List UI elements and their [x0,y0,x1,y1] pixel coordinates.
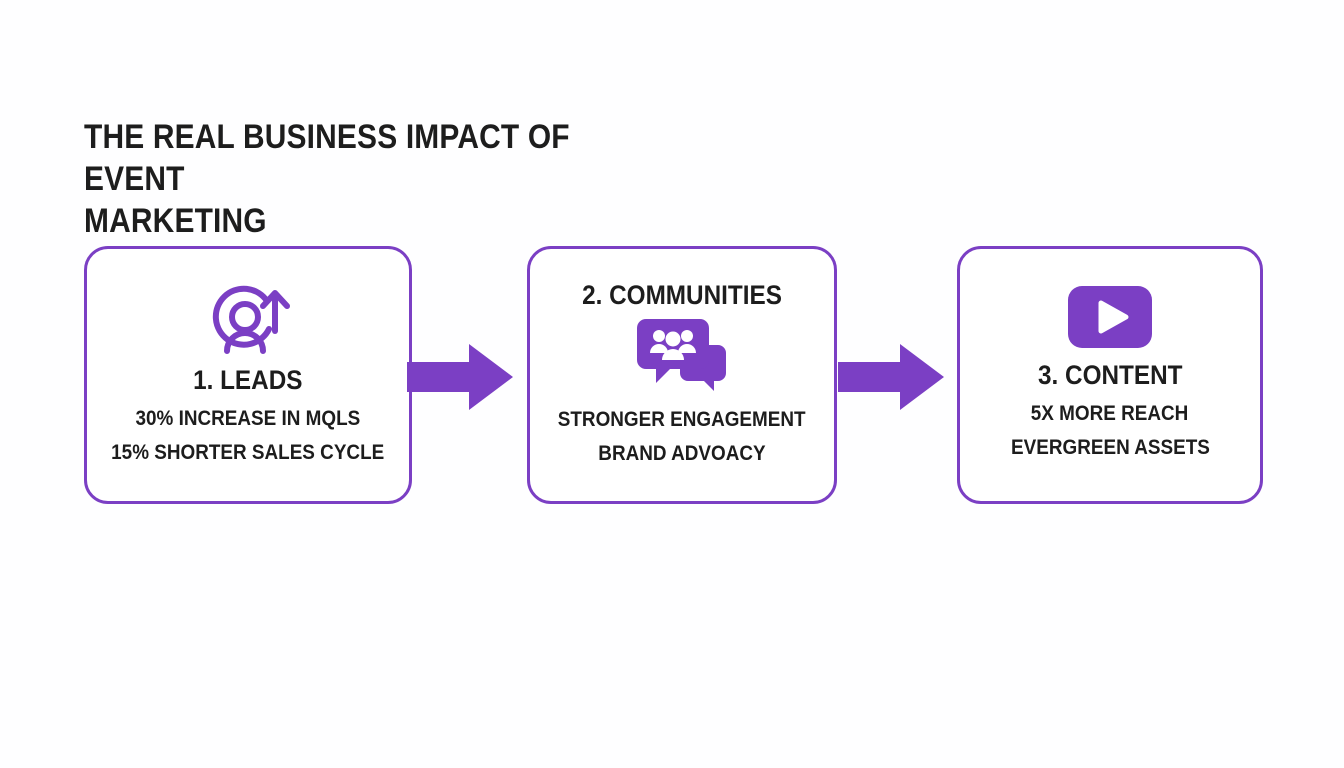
impact-card-leads[interactable]: 1. LEADS 30% INCREASE IN MQLs 15% SHORTE… [84,246,412,504]
slide-canvas: The Real Business Impact of Event Market… [0,0,1344,768]
person-growth-icon [205,281,291,357]
play-button-icon [1068,286,1152,348]
arrow-right-icon [407,344,513,410]
card-line-content-1: 5X MORE REACH [1031,397,1189,431]
card-heading-communities: 2. COMMUNITIES [582,280,782,311]
card-line-leads-2: 15% SHORTER SALES CYCLE [111,436,384,470]
page-title: The Real Business Impact of Event Market… [84,116,647,242]
impact-card-communities[interactable]: 2. COMMUNITIES STRONGER ENGAGEMENT [527,246,837,504]
arrow-right-icon [838,344,944,410]
card-heading-leads: 1. LEADS [193,365,302,396]
card-line-content-2: EVERGREEN ASSETS [1011,431,1210,465]
card-line-leads-1: 30% INCREASE IN MQLs [136,402,361,436]
card-line-communities-2: BRAND ADVOACY [598,437,765,471]
card-line-communities-1: STRONGER ENGAGEMENT [558,403,806,437]
impact-card-content[interactable]: 3. CONTENT 5X MORE REACH EVERGREEN ASSET… [957,246,1263,504]
speech-bubbles-group-icon [636,319,728,391]
card-heading-content: 3. CONTENT [1038,360,1182,391]
